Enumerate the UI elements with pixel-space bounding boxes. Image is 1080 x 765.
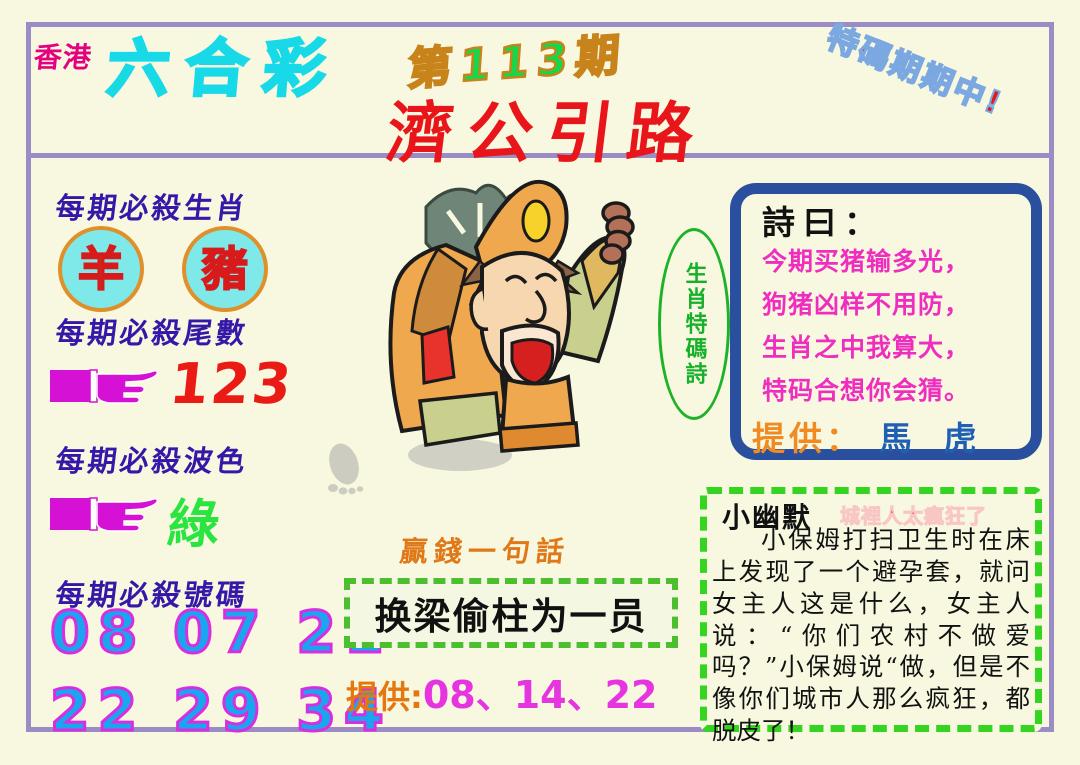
poem-line-1: 今期买猪输多光， (762, 242, 970, 278)
humour-body-text: 小保姆打扫卫生时在床上发现了一个避孕套，就问女主人这是什么，女主人说：“你们农村… (712, 524, 1030, 747)
win-phrase-heading: 贏錢一句話 (398, 530, 572, 570)
zodiac-ball-2-label: 豬 (202, 246, 248, 292)
poem-line-2: 狗猪凶样不用防， (762, 285, 970, 321)
kill-numbers-row-2: 22 29 34 (50, 678, 392, 744)
diagonal-slogan: 特碼期期中! (821, 12, 1011, 124)
jigong-monk-cartoon (330, 165, 670, 485)
win-phrase-banner: 换梁偷柱为一员 (344, 578, 678, 648)
color-heading: 每期必殺波色 (53, 438, 250, 480)
center-provide-label: 提供: (346, 678, 423, 716)
color-value: 綠 (164, 482, 226, 557)
zodiac-ball-2[interactable]: 豬 (182, 226, 268, 312)
pointing-hand-icon (50, 362, 160, 410)
poem-line-3: 生肖之中我算大， (762, 328, 970, 364)
hongkong-label: 香港 (32, 36, 94, 76)
poem-line-4: 特码合想你会猜。 (762, 371, 970, 407)
center-provide-numbers: 08、14、22 (423, 673, 658, 717)
poem-heading: 詩曰： (762, 196, 885, 244)
win-phrase-text: 换梁偷柱为一员 (375, 586, 648, 640)
poem-credit-label: 提供： (752, 419, 863, 458)
poem-oval-label: 生肖特碼詩 (658, 228, 730, 420)
zodiac-ball-1-label: 羊 (78, 246, 124, 292)
zodiac-ball-1[interactable]: 羊 (58, 226, 144, 312)
tail-number-heading: 每期必殺尾數 (53, 310, 250, 352)
zodiac-ball-row: 羊 豬 (58, 226, 288, 316)
page-title: 濟公引路 (382, 80, 714, 176)
kill-numbers-row-1: 08 07 21 (50, 600, 392, 666)
pointing-hand-icon-2 (50, 490, 160, 538)
center-provide-line: 提供:08、14、22 (346, 664, 657, 719)
poem-credit-name: 馬 虎 (879, 419, 987, 458)
poster-page: 香港 六合彩 第113期 濟公引路 特碼期期中! 每期必殺生肖 羊 豬 每期必殺… (0, 0, 1080, 765)
poem-oval-text: 生肖特碼詩 (682, 262, 705, 387)
tail-numbers-value: 123 (167, 352, 297, 417)
poem-credit: 提供：馬 虎 (752, 412, 987, 460)
lottery-name-title: 六合彩 (104, 18, 346, 108)
zodiac-heading: 每期必殺生肖 (53, 185, 250, 227)
